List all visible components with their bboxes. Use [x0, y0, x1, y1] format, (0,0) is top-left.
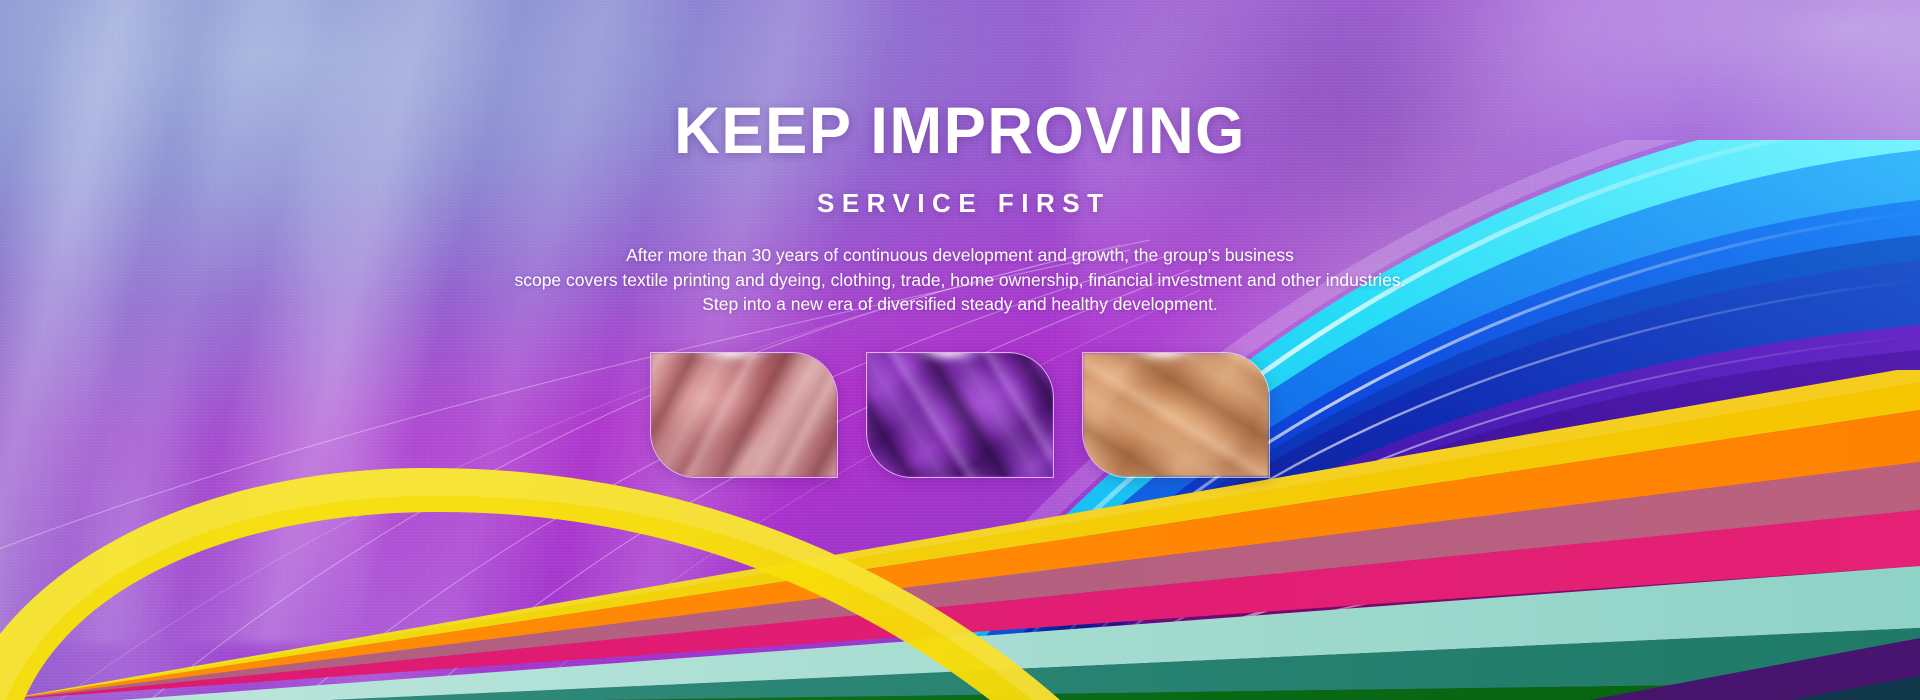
purple-satin-texture — [867, 353, 1053, 477]
description-line-3: Step into a new era of diversified stead… — [0, 292, 1920, 317]
tan-satin-texture — [1083, 353, 1269, 477]
banner-content: KEEP IMPROVING SERVICE FIRST After more … — [0, 0, 1920, 700]
page-subtitle: SERVICE FIRST — [0, 190, 1920, 216]
description-line-1: After more than 30 years of continuous d… — [0, 243, 1920, 268]
tan-satin-swatch[interactable] — [1082, 352, 1270, 478]
purple-satin-swatch[interactable] — [866, 352, 1054, 478]
rose-satin-texture — [651, 353, 837, 477]
page-title: KEEP IMPROVING — [38, 97, 1881, 163]
description-paragraph: After more than 30 years of continuous d… — [0, 243, 1920, 317]
description-line-2: scope covers textile printing and dyeing… — [0, 268, 1920, 293]
promo-banner: KEEP IMPROVING SERVICE FIRST After more … — [0, 0, 1920, 700]
fabric-swatch-gallery — [0, 352, 1920, 482]
rose-satin-swatch[interactable] — [650, 352, 838, 478]
